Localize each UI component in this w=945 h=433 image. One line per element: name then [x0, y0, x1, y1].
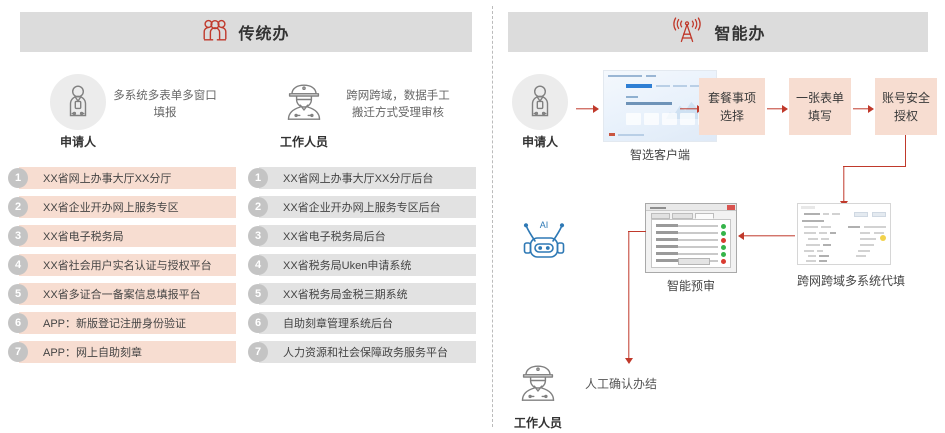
list-item-number: 3 [248, 226, 268, 246]
step-line-1: 账号安全 [882, 89, 930, 107]
step-box-account-auth[interactable]: 账号安全 授权 [875, 78, 937, 135]
list-item-label: XX省企业开办网上服务专区 [19, 199, 179, 215]
ai-robot-label: AI [540, 220, 549, 230]
list-item-number: 1 [8, 168, 28, 188]
staff-note: 跨网跨域，数据手工 搬迁方式受理审核 [328, 88, 468, 121]
step-line-2: 填写 [808, 107, 832, 125]
list-item[interactable]: XX省税务局Uken申请系统 4 [248, 254, 476, 276]
list-item-label: XX省网上办事大厅XX分厅 [19, 170, 171, 186]
list-item-label: APP：网上自助刻章 [19, 344, 142, 360]
list-item-bar: XX省企业开办网上服务专区后台 [259, 196, 476, 218]
list-item[interactable]: 人力资源和社会保障政务服务平台 7 [248, 341, 476, 363]
list-item-bar: APP：新版登记注册身份验证 [19, 312, 236, 334]
left-panel-title: 传统办 [238, 20, 289, 44]
list-item-bar: XX省网上办事大厅XX分厅后台 [259, 167, 476, 189]
list-item-number: 2 [248, 197, 268, 217]
applicant-role-label: 申请人 [508, 133, 572, 150]
list-item-label: XX省电子税务局后台 [259, 228, 386, 244]
staff-note-text: 跨网跨域，数据手工 搬迁方式受理审核 [346, 90, 450, 119]
list-item[interactable]: APP：新版登记注册身份验证 6 [8, 312, 236, 334]
step-line-1: 一张表单 [796, 89, 844, 107]
staff-avatar [276, 74, 332, 130]
staff-role-label: 工作人员 [272, 133, 336, 150]
list-item-label: XX省税务局Uken申请系统 [259, 257, 411, 273]
left-staff-role: 工作人员 [272, 74, 336, 150]
officer-person-icon [516, 361, 560, 405]
list-item-number: 5 [8, 284, 28, 304]
list-item[interactable]: XX省网上办事大厅XX分厅后台 1 [248, 167, 476, 189]
manual-confirm-label: 人工确认办结 [585, 375, 657, 392]
ai-robot-icon: AI [518, 215, 570, 265]
list-item[interactable]: XX省电子税务局 3 [8, 225, 236, 247]
staff-role-label: 工作人员 [506, 414, 570, 431]
list-item-label: XX省电子税务局 [19, 228, 124, 244]
panel-divider [492, 6, 493, 427]
autofill-form-thumbnail[interactable]: 跨网跨域多系统代填 [797, 203, 891, 265]
three-persons-icon [202, 18, 228, 47]
list-item-bar: XX省税务局Uken申请系统 [259, 254, 476, 276]
broadcast-antenna-icon [670, 17, 704, 48]
step-line-2: 授权 [894, 107, 918, 125]
applicant-note-text: 多系统多表单多窗口 填报 [113, 90, 217, 119]
list-item[interactable]: XX省网上办事大厅XX分厅 1 [8, 167, 236, 189]
diagram-root: 传统办 申请人 多系统多表单多窗口 填报 [0, 0, 945, 433]
officer-person-icon [282, 80, 326, 124]
staff-system-list: XX省网上办事大厅XX分厅后台 1 XX省企业开办网上服务专区后台 2 XX省电… [248, 167, 476, 370]
list-item-bar: APP：网上自助刻章 [19, 341, 236, 363]
applicant-role-label: 申请人 [46, 133, 110, 150]
list-item-number: 1 [248, 168, 268, 188]
list-item[interactable]: APP：网上自助刻章 7 [8, 341, 236, 363]
prereview-caption: 智能预审 [645, 277, 737, 294]
list-item-bar: 人力资源和社会保障政务服务平台 [259, 341, 476, 363]
arrow-autofill-to-prereview [739, 231, 795, 241]
applicant-avatar [512, 74, 568, 130]
applicant-system-list: XX省网上办事大厅XX分厅 1 XX省企业开办网上服务专区 2 XX省电子税务局… [8, 167, 236, 370]
list-item-number: 7 [248, 342, 268, 362]
list-item-number: 6 [8, 313, 28, 333]
arrow-step2-to-step3 [853, 104, 873, 114]
right-panel-header: 智能办 [508, 12, 928, 52]
close-icon[interactable] [727, 205, 735, 210]
list-item-label: XX省网上办事大厅XX分厅后台 [259, 170, 433, 186]
ai-robot-block: AI [512, 212, 576, 268]
right-applicant-role: 申请人 [508, 74, 572, 150]
applicant-avatar [50, 74, 106, 130]
list-item[interactable]: XX省社会用户实名认证与授权平台 4 [8, 254, 236, 276]
list-item-label: XX省社会用户实名认证与授权平台 [19, 257, 212, 273]
list-item-number: 3 [8, 226, 28, 246]
list-item[interactable]: XX省企业开办网上服务专区 2 [8, 196, 236, 218]
step-line-2: 选择 [720, 107, 744, 125]
list-item-number: 2 [8, 197, 28, 217]
ai-robot-avatar: AI [516, 212, 572, 268]
step-line-1: 套餐事项 [708, 89, 756, 107]
list-item-number: 4 [8, 255, 28, 275]
list-item-label: XX省税务局金税三期系统 [259, 286, 408, 302]
list-item-label: APP：新版登记注册身份验证 [19, 315, 186, 331]
list-item-label: XX省企业开办网上服务专区后台 [259, 199, 441, 215]
arrow-applicant-to-client [576, 104, 598, 114]
prereview-dialog-thumbnail[interactable]: 智能预审 [645, 203, 737, 273]
autofill-form-screenshot [797, 203, 891, 265]
list-item-label: XX省多证合一备案信息填报平台 [19, 286, 201, 302]
staff-avatar [510, 355, 566, 411]
arrow-step1-to-step2 [767, 104, 787, 114]
right-staff-role: 工作人员 [506, 355, 570, 431]
list-item-bar: XX省电子税务局 [19, 225, 236, 247]
list-item-number: 7 [8, 342, 28, 362]
list-item[interactable]: XX省企业开办网上服务专区后台 2 [248, 196, 476, 218]
list-item-bar: XX省多证合一备案信息填报平台 [19, 283, 236, 305]
autofill-caption: 跨网跨域多系统代填 [797, 272, 891, 289]
list-item-number: 4 [248, 255, 268, 275]
list-item-bar: XX省电子税务局后台 [259, 225, 476, 247]
list-item-bar: XX省税务局金税三期系统 [259, 283, 476, 305]
list-item[interactable]: XX省电子税务局后台 3 [248, 225, 476, 247]
right-panel-title: 智能办 [714, 20, 765, 44]
list-item[interactable]: XX省税务局金税三期系统 5 [248, 283, 476, 305]
left-panel-header: 传统办 [20, 12, 472, 52]
client-thumb-caption: 智选客户端 [603, 146, 717, 163]
list-item-bar: XX省企业开办网上服务专区 [19, 196, 236, 218]
step-box-single-form[interactable]: 一张表单 填写 [789, 78, 851, 135]
list-item-number: 6 [248, 313, 268, 333]
applicant-person-icon [61, 84, 95, 120]
list-item-bar: XX省网上办事大厅XX分厅 [19, 167, 236, 189]
prereview-dialog-screenshot [645, 203, 737, 273]
list-item-number: 5 [248, 284, 268, 304]
list-item[interactable]: 自助刻章管理系统后台 6 [248, 312, 476, 334]
list-item-label: 自助刻章管理系统后台 [259, 315, 393, 331]
list-item-bar: XX省社会用户实名认证与授权平台 [19, 254, 236, 276]
applicant-note: 多系统多表单多窗口 填报 [100, 88, 230, 121]
list-item-label: 人力资源和社会保障政务服务平台 [259, 344, 448, 360]
list-item-bar: 自助刻章管理系统后台 [259, 312, 476, 334]
list-item[interactable]: XX省多证合一备案信息填报平台 5 [8, 283, 236, 305]
applicant-person-icon [523, 84, 557, 120]
step-box-package-selection[interactable]: 套餐事项 选择 [699, 78, 765, 135]
